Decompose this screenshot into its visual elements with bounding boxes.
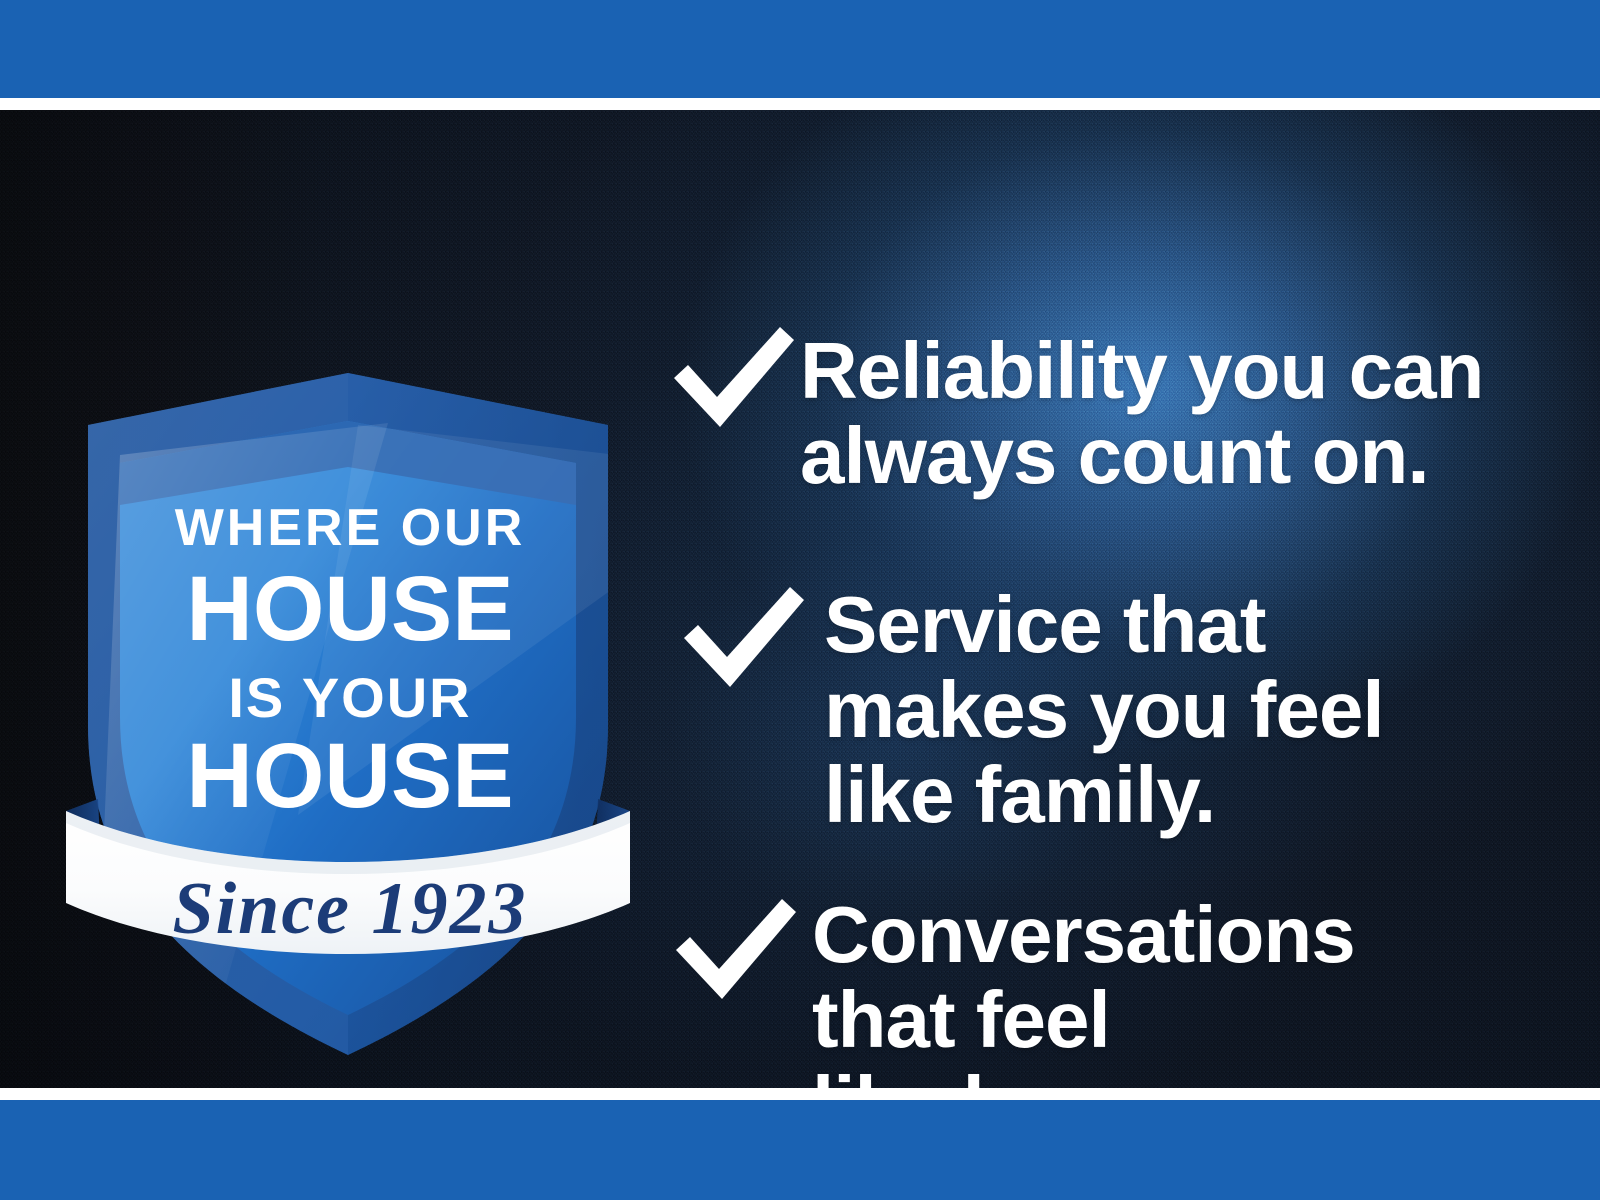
checkmark-icon — [670, 895, 802, 1015]
benefit-text: Reliability you can always count on. — [800, 329, 1483, 499]
benefit-item: Service that makes you feel like family. — [678, 583, 1384, 837]
shield-line-0: WHERE OUR — [175, 499, 526, 557]
top-brand-bar — [0, 0, 1600, 98]
shield-line-1: HOUSE — [186, 558, 513, 660]
benefit-text: Conversations that feel like home. — [812, 893, 1355, 1088]
checkmark-icon — [678, 583, 810, 703]
checkmark-icon — [668, 323, 800, 443]
shield-logo: WHERE OUR HOUSE IS YOUR HOUSE Since 1923 — [58, 255, 638, 1065]
main-stage: WHERE OUR HOUSE IS YOUR HOUSE Since 1923 — [0, 110, 1600, 1088]
promo-poster: WHERE OUR HOUSE IS YOUR HOUSE Since 1923 — [0, 0, 1600, 1200]
shield-line-2: IS YOUR — [228, 666, 471, 729]
bottom-brand-bar — [0, 1100, 1600, 1200]
benefit-text: Service that makes you feel like family. — [824, 583, 1384, 837]
benefit-item: Conversations that feel like home. — [670, 895, 1355, 1088]
ribbon-since-text: Since 1923 — [172, 868, 527, 950]
shield-line-3: HOUSE — [186, 725, 513, 827]
benefit-item: Reliability you can always count on. — [668, 323, 1483, 499]
